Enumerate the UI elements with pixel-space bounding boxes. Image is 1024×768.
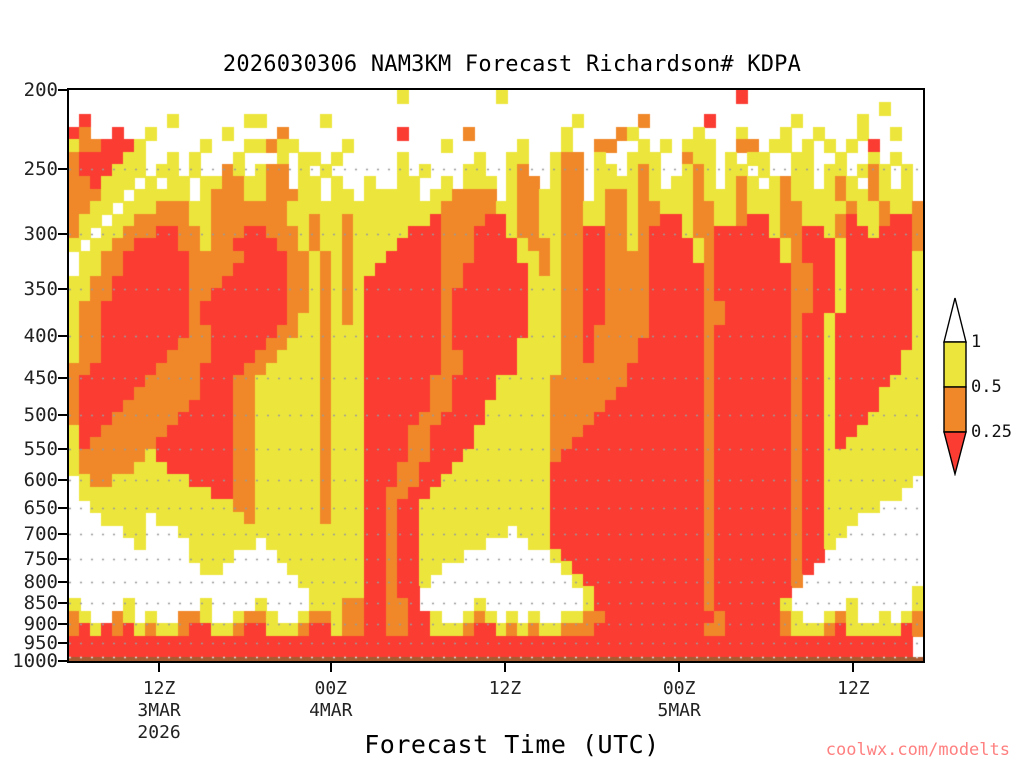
y-tick-label-350: 350	[24, 278, 58, 300]
x-tick-mark-0	[158, 663, 160, 672]
y-tick-mark-750	[58, 558, 67, 560]
y-tick-mark-350	[58, 288, 67, 290]
x-tick-mark-3	[678, 663, 680, 672]
colorbar-tick-0.5: 0.5	[971, 377, 1002, 397]
y-tick-mark-450	[58, 377, 67, 379]
colorbar-tick-1: 1	[971, 332, 981, 352]
y-tick-mark-600	[58, 479, 67, 481]
x-tick-mark-1	[330, 663, 332, 672]
y-tick-mark-400	[58, 335, 67, 337]
y-tick-label-750: 750	[24, 548, 58, 570]
y-tick-label-300: 300	[24, 223, 58, 245]
plot-area	[67, 88, 925, 663]
y-tick-mark-700	[58, 533, 67, 535]
y-tick-label-600: 600	[24, 469, 58, 491]
y-tick-mark-800	[58, 581, 67, 583]
x-tick-time-1: 00Z	[314, 678, 347, 699]
y-tick-mark-250	[58, 168, 67, 170]
y-tick-label-700: 700	[24, 523, 58, 545]
y-tick-mark-900	[58, 623, 67, 625]
colorbar-legend: 1 0.5 0.25	[941, 296, 1023, 476]
x-tick-date-3: 5MAR	[657, 700, 700, 721]
x-tick-mark-4	[852, 663, 854, 672]
site-watermark: coolwx.com/modelts	[826, 740, 1010, 760]
x-tick-time-3: 00Z	[663, 678, 696, 699]
x-tick-mark-2	[504, 663, 506, 672]
y-tick-mark-1000	[58, 660, 67, 662]
y-tick-label-250: 250	[24, 158, 58, 180]
colorbar-tick-0.25: 0.25	[971, 422, 1012, 442]
chart-stage: 2026030306 NAM3KM Forecast Richardson# K…	[0, 0, 1024, 768]
y-tick-label-500: 500	[24, 404, 58, 426]
y-tick-label-400: 400	[24, 325, 58, 347]
y-tick-label-850: 850	[24, 592, 58, 614]
y-tick-label-1000: 1000	[12, 650, 58, 672]
y-tick-mark-950	[58, 642, 67, 644]
heatmap-canvas	[69, 90, 923, 661]
x-tick-date-0: 3MAR	[137, 700, 180, 721]
y-axis: 2002503003504004505005506006507007508008…	[0, 0, 58, 768]
x-tick-time-0: 12Z	[143, 678, 176, 699]
x-tick-time-4: 12Z	[837, 678, 870, 699]
y-tick-label-200: 200	[24, 79, 58, 101]
x-tick-time-2: 12Z	[489, 678, 522, 699]
y-tick-label-650: 650	[24, 497, 58, 519]
y-tick-mark-650	[58, 507, 67, 509]
y-tick-label-800: 800	[24, 571, 58, 593]
y-tick-mark-500	[58, 414, 67, 416]
y-tick-mark-200	[58, 89, 67, 91]
page-title: 2026030306 NAM3KM Forecast Richardson# K…	[0, 52, 1024, 77]
x-tick-date-1: 4MAR	[309, 700, 352, 721]
y-tick-mark-850	[58, 602, 67, 604]
y-tick-mark-550	[58, 448, 67, 450]
y-tick-mark-300	[58, 233, 67, 235]
y-tick-label-450: 450	[24, 367, 58, 389]
y-tick-label-550: 550	[24, 438, 58, 460]
